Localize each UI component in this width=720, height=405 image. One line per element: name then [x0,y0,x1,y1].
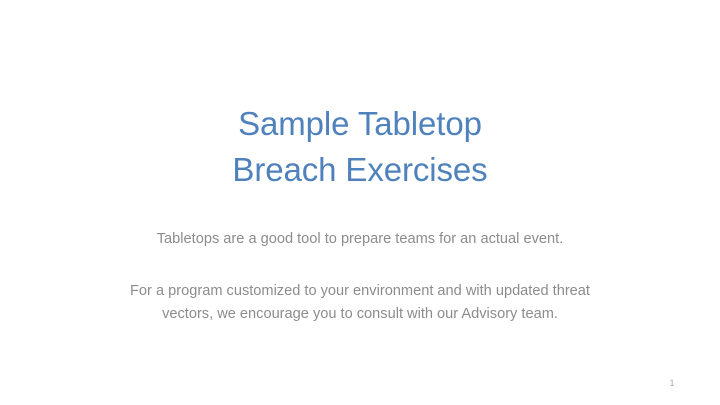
presentation-slide: Sample Tabletop Breach Exercises Tableto… [0,0,720,405]
title-line-2: Breach Exercises [0,147,720,193]
slide-title: Sample Tabletop Breach Exercises [0,101,720,193]
body-paragraph-1: Tabletops are a good tool to prepare tea… [108,228,612,252]
body-paragraph-2: For a program customized to your environ… [108,280,612,327]
slide-body: Tabletops are a good tool to prepare tea… [108,228,612,327]
title-line-1: Sample Tabletop [0,101,720,147]
page-number: 1 [656,377,688,389]
